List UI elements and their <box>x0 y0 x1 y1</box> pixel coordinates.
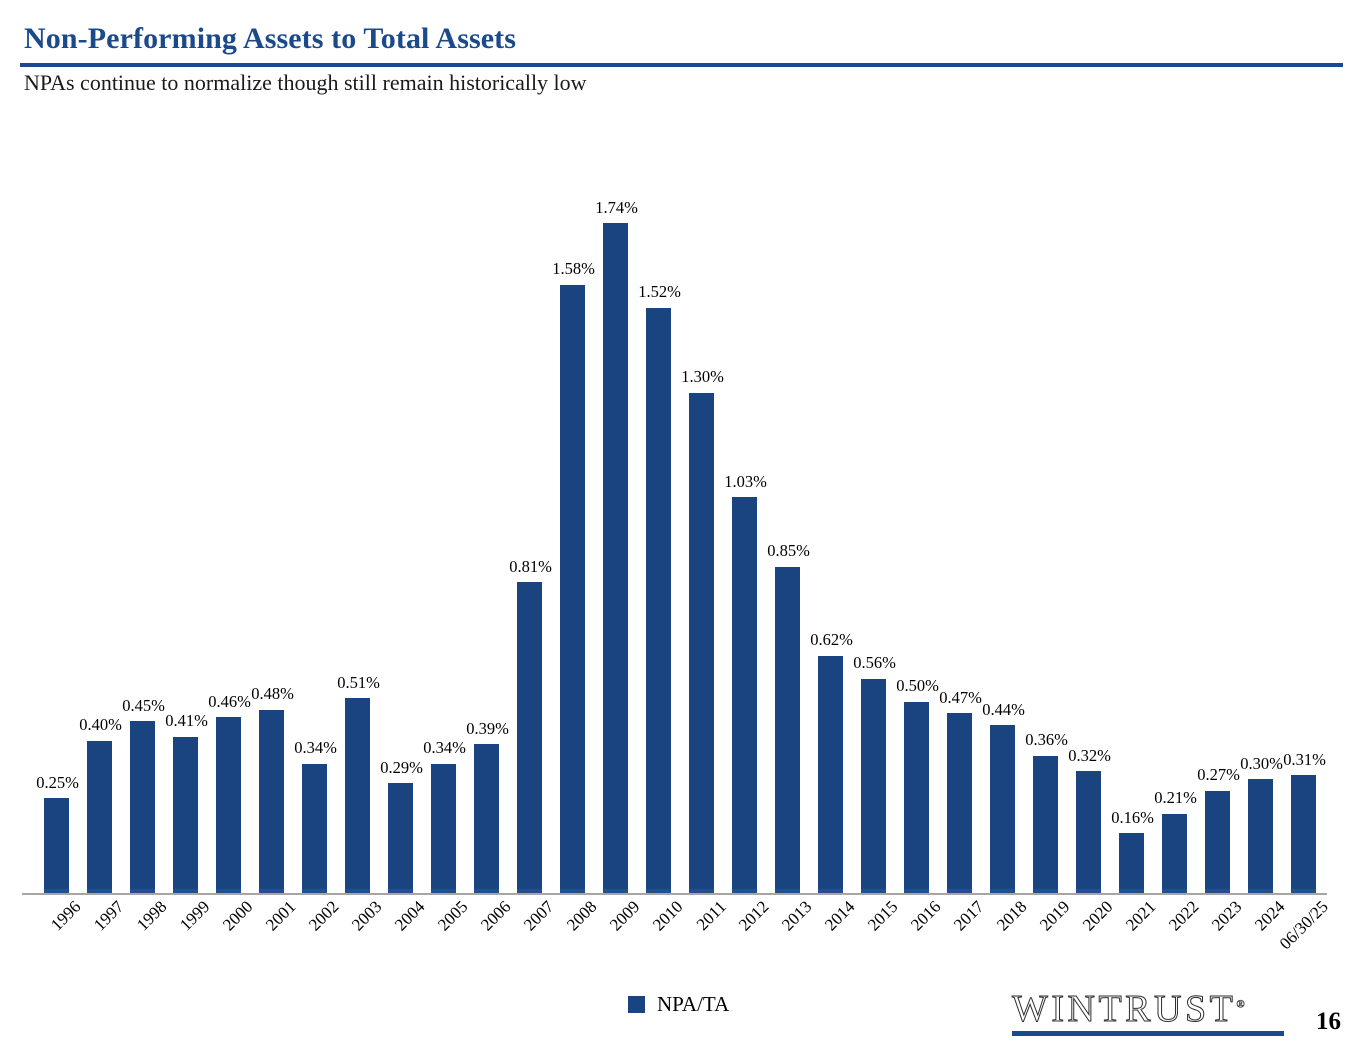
x-axis-tick: 2007 <box>509 897 552 987</box>
x-axis-tick: 2012 <box>724 897 767 987</box>
bar-value-label: 0.40% <box>79 717 122 734</box>
x-axis-tick: 1997 <box>79 897 122 987</box>
x-axis-tick: 2002 <box>294 897 337 987</box>
bar-value-label: 0.85% <box>767 543 810 560</box>
bar[interactable] <box>947 713 972 895</box>
x-axis-tick: 1999 <box>165 897 208 987</box>
bar-value-label: 1.03% <box>724 474 767 491</box>
bar-value-label: 0.31% <box>1283 752 1326 769</box>
bar[interactable] <box>904 702 929 895</box>
page-number: 16 <box>1316 1008 1341 1036</box>
wintrust-wordmark-text: WINTRUST <box>1012 988 1236 1030</box>
npa-bar-chart: 0.25%0.40%0.45%0.41%0.46%0.48%0.34%0.51%… <box>0 0 1365 1055</box>
wintrust-underline <box>1012 1031 1284 1036</box>
x-axis-tick: 2021 <box>1111 897 1154 987</box>
x-axis-tick: 2000 <box>208 897 251 987</box>
x-axis-tick: 2017 <box>939 897 982 987</box>
bar[interactable] <box>646 308 671 895</box>
bar[interactable] <box>560 285 585 895</box>
bar-value-label: 0.41% <box>165 713 208 730</box>
bar-value-label: 0.34% <box>423 740 466 757</box>
x-axis-tick: 2006 <box>466 897 509 987</box>
bar[interactable] <box>259 710 284 895</box>
bar-value-label: 1.58% <box>552 261 595 278</box>
bar[interactable] <box>216 717 241 895</box>
bar[interactable] <box>732 497 757 895</box>
bar[interactable] <box>44 798 69 895</box>
bar-value-label: 0.30% <box>1240 756 1283 773</box>
bar-value-label: 0.25% <box>36 775 79 792</box>
bar[interactable] <box>474 744 499 895</box>
x-axis-tick: 2022 <box>1154 897 1197 987</box>
bar[interactable] <box>1162 814 1187 895</box>
x-axis-tick: 2024 <box>1240 897 1283 987</box>
bar-value-label: 0.81% <box>509 559 552 576</box>
bar-value-label: 0.47% <box>939 690 982 707</box>
bar-value-label: 0.32% <box>1068 748 1111 765</box>
bar[interactable] <box>861 679 886 895</box>
bar-value-label: 0.50% <box>896 678 939 695</box>
bar[interactable] <box>1033 756 1058 895</box>
bar[interactable] <box>1291 775 1316 895</box>
bar[interactable] <box>818 656 843 895</box>
x-axis-tick: 2015 <box>853 897 896 987</box>
bar-value-label: 0.39% <box>466 721 509 738</box>
bar-value-label: 0.34% <box>294 740 337 757</box>
legend-label-npa-ta: NPA/TA <box>657 992 729 1017</box>
bar-value-label: 0.21% <box>1154 790 1197 807</box>
bar-value-label: 0.27% <box>1197 767 1240 784</box>
bar[interactable] <box>1076 771 1101 895</box>
bar[interactable] <box>130 721 155 895</box>
bar-value-label: 0.36% <box>1025 732 1068 749</box>
bar-value-label: 0.16% <box>1111 810 1154 827</box>
bar-value-label: 0.46% <box>208 694 251 711</box>
x-axis-tick: 2020 <box>1068 897 1111 987</box>
x-axis-tick: 2016 <box>896 897 939 987</box>
bar[interactable] <box>689 393 714 895</box>
x-axis-tick: 2009 <box>595 897 638 987</box>
x-axis-tick: 2003 <box>337 897 380 987</box>
legend-swatch-npa-ta <box>628 996 645 1013</box>
x-axis-tick: 2010 <box>638 897 681 987</box>
bar[interactable] <box>990 725 1015 895</box>
bar[interactable] <box>345 698 370 895</box>
bar-value-label: 0.51% <box>337 675 380 692</box>
chart-legend: NPA/TA <box>628 992 729 1017</box>
bar-value-label: 1.30% <box>681 369 724 386</box>
bar[interactable] <box>517 582 542 895</box>
bar-value-label: 0.45% <box>122 698 165 715</box>
x-axis-tick: 2023 <box>1197 897 1240 987</box>
bar-value-label: 0.44% <box>982 702 1025 719</box>
x-axis-tick: 2013 <box>767 897 810 987</box>
bar[interactable] <box>1248 779 1273 895</box>
x-axis-tick: 2011 <box>681 897 724 987</box>
wintrust-logo: WINTRUST® <box>1012 990 1300 1036</box>
bar[interactable] <box>302 764 327 895</box>
x-axis-tick: 2019 <box>1025 897 1068 987</box>
bar-value-label: 0.48% <box>251 686 294 703</box>
x-axis-tick: 2008 <box>552 897 595 987</box>
bar-value-label: 0.62% <box>810 632 853 649</box>
x-axis-tick: 2005 <box>423 897 466 987</box>
bar[interactable] <box>603 223 628 895</box>
wintrust-wordmark: WINTRUST® <box>1012 990 1300 1028</box>
x-axis-tick: 1996 <box>36 897 79 987</box>
bar[interactable] <box>1205 791 1230 895</box>
bar[interactable] <box>431 764 456 895</box>
bar-value-label: 1.52% <box>638 284 681 301</box>
bar[interactable] <box>1119 833 1144 895</box>
bar-value-label: 0.29% <box>380 760 423 777</box>
bar[interactable] <box>87 741 112 895</box>
x-axis-tick-label: 06/30/25 <box>1275 897 1332 954</box>
x-axis-tick: 2014 <box>810 897 853 987</box>
x-axis-tick: 06/30/25 <box>1283 897 1326 987</box>
x-axis-tick: 2018 <box>982 897 1025 987</box>
bar[interactable] <box>775 567 800 895</box>
bar-value-label: 0.56% <box>853 655 896 672</box>
bar[interactable] <box>388 783 413 895</box>
chart-plot-area: 0.25%0.40%0.45%0.41%0.46%0.48%0.34%0.51%… <box>22 150 1332 895</box>
bar[interactable] <box>173 737 198 895</box>
x-axis-tick: 1998 <box>122 897 165 987</box>
x-axis-line <box>22 893 1327 895</box>
x-axis-tick: 2001 <box>251 897 294 987</box>
x-axis-tick: 2004 <box>380 897 423 987</box>
bar-value-label: 1.74% <box>595 200 638 217</box>
registered-trademark-icon: ® <box>1236 998 1248 1010</box>
